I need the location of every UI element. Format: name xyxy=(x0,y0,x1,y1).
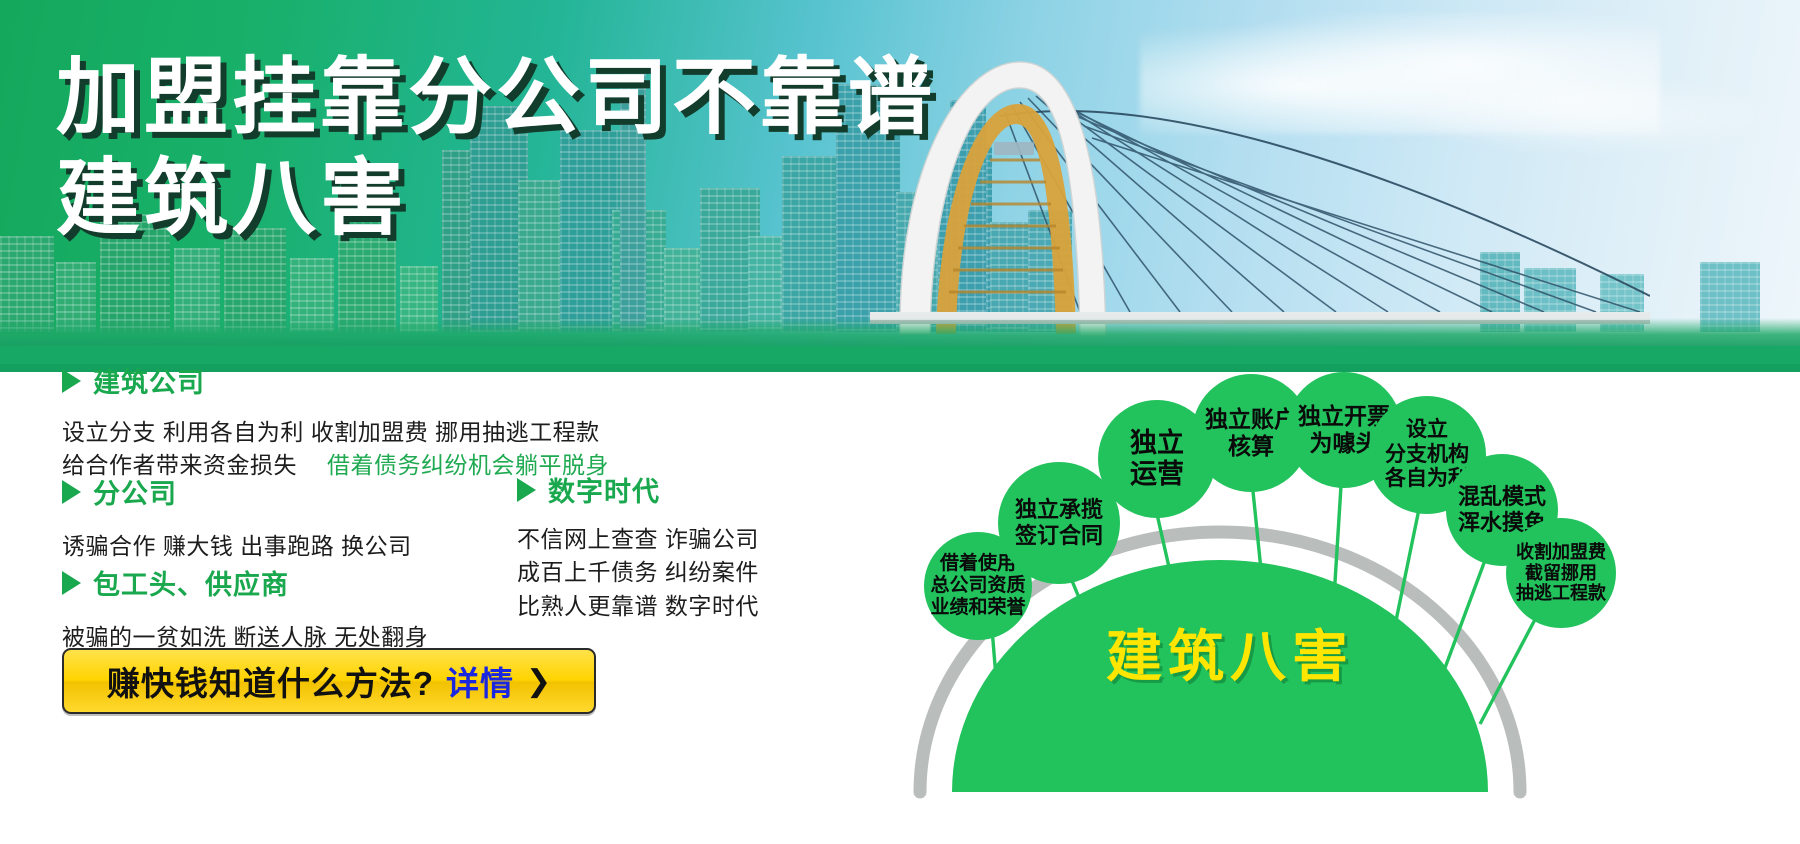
section-title: 数字时代 xyxy=(548,470,660,509)
bubble-label: 收割加盟费 截留挪用 抽逃工程款 xyxy=(1516,542,1606,605)
bubble-label: 独立账户 核算 xyxy=(1205,406,1297,459)
hero-banner: 加盟挂靠分公司不靠谱 建筑八害 xyxy=(0,0,1800,372)
hero-headline: 加盟挂靠分公司不靠谱 建筑八害 xyxy=(56,52,936,243)
section-title: 分公司 xyxy=(93,472,177,511)
banner-root: 加盟挂靠分公司不靠谱 建筑八害 建筑公司 设立分支 利用各自为利 收割加盟费 挪… xyxy=(0,0,1800,844)
section-body: 被骗的一贫如洗 断送人脉 无处翻身 xyxy=(62,618,428,652)
headline-line-1: 加盟挂靠分公司不靠谱 xyxy=(56,52,936,143)
chevron-right-icon: ❯ xyxy=(526,664,551,699)
cta-button[interactable]: 赚快钱知道什么方法? 详情 ❯ xyxy=(62,648,596,714)
left-content-column: 建筑公司 设立分支 利用各自为利 收割加盟费 挪用抽逃工程款 给合作者带来资金损… xyxy=(0,372,880,844)
bubble-label: 独立承揽 签订合同 xyxy=(1015,497,1103,548)
section-header: 建筑公司 xyxy=(62,361,609,400)
cta-label: 赚快钱知道什么方法? xyxy=(107,657,434,705)
section-contractor-supplier: 包工头、供应商 被骗的一贫如洗 断送人脉 无处翻身 xyxy=(62,563,428,652)
section-header: 数字时代 xyxy=(517,470,759,509)
bubble-8[interactable]: 收割加盟费 截留挪用 抽逃工程款 xyxy=(1506,518,1616,628)
body-line: 诱骗合作 赚大钱 出事跑路 换公司 xyxy=(62,527,412,561)
body-line: 比熟人更靠谱 数字时代 xyxy=(517,590,759,623)
section-header: 分公司 xyxy=(62,472,412,511)
triangle-right-icon xyxy=(62,369,81,393)
triangle-right-icon xyxy=(62,480,81,504)
section-digital-era: 数字时代 不信网上查查 诈骗公司 成百上千债务 纠纷案件 比熟人更靠谱 数字时代 xyxy=(517,470,759,623)
body-line: 设立分支 利用各自为利 收割加盟费 挪用抽逃工程款 xyxy=(62,416,609,449)
section-title: 建筑公司 xyxy=(93,361,205,400)
section-body: 诱骗合作 赚大钱 出事跑路 换公司 xyxy=(62,527,412,561)
body-line: 成百上千债务 纠纷案件 xyxy=(517,556,759,589)
section-header: 包工头、供应商 xyxy=(62,563,428,602)
bubble-diagram: 建筑八害 借着使用 总公司资质 业绩和荣誉 独立承揽 签订合同 独立 运营 独立… xyxy=(880,372,1800,844)
body-line: 被骗的一贫如洗 断送人脉 无处翻身 xyxy=(62,618,428,652)
triangle-right-icon xyxy=(62,571,81,595)
bubble-label: 借着使用 总公司资质 业绩和荣誉 xyxy=(930,553,1025,619)
body-line: 不信网上查查 诈骗公司 xyxy=(517,523,759,556)
bubble-label: 独立 运营 xyxy=(1130,428,1184,491)
hero-ground xyxy=(0,318,1800,348)
diagram-center-label: 建筑八害 xyxy=(1080,612,1380,693)
section-title: 包工头、供应商 xyxy=(93,563,289,602)
headline-line-2: 建筑八害 xyxy=(56,153,936,244)
cta-detail-link[interactable]: 详情 xyxy=(446,657,514,705)
triangle-right-icon xyxy=(517,478,536,502)
section-body: 不信网上查查 诈骗公司 成百上千债务 纠纷案件 比熟人更靠谱 数字时代 xyxy=(517,523,759,623)
section-construction-company: 建筑公司 设立分支 利用各自为利 收割加盟费 挪用抽逃工程款 给合作者带来资金损… xyxy=(62,361,609,483)
section-branch-company: 分公司 诱骗合作 赚大钱 出事跑路 换公司 xyxy=(62,472,412,561)
